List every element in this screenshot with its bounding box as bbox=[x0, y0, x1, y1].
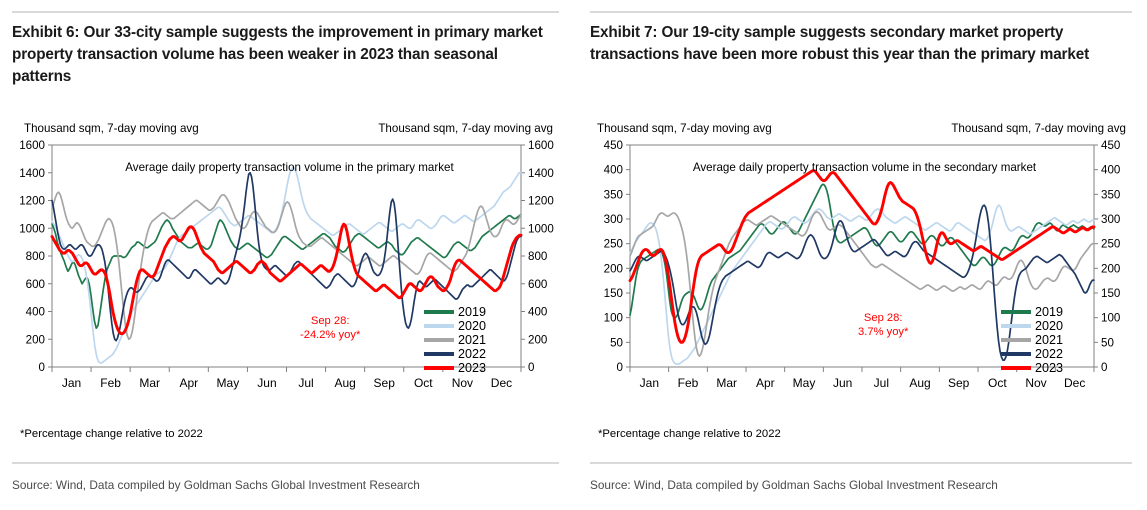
svg-text:Sep: Sep bbox=[374, 376, 396, 390]
svg-text:1600: 1600 bbox=[528, 139, 554, 152]
y-axis-unit-left: Thousand sqm, 7-day moving avg bbox=[597, 122, 772, 135]
footnote-secondary: *Percentage change relative to 2022 bbox=[598, 428, 781, 440]
legend-secondary: 20192020202120222023 bbox=[1001, 305, 1063, 375]
svg-text:0: 0 bbox=[1101, 361, 1107, 374]
svg-text:250: 250 bbox=[1101, 238, 1120, 251]
svg-text:May: May bbox=[217, 376, 240, 390]
svg-text:May: May bbox=[793, 376, 816, 390]
svg-text:0: 0 bbox=[528, 361, 534, 374]
svg-text:Apr: Apr bbox=[179, 376, 198, 390]
svg-text:450: 450 bbox=[1101, 139, 1120, 152]
legend-swatch-2022 bbox=[1001, 352, 1031, 355]
svg-text:350: 350 bbox=[604, 188, 623, 201]
svg-text:1600: 1600 bbox=[19, 139, 45, 152]
legend-label-2019: 2019 bbox=[1035, 306, 1063, 319]
svg-text:800: 800 bbox=[528, 250, 547, 263]
panel-exhibit-7: Exhibit 7: Our 19-city sample suggests s… bbox=[573, 0, 1146, 510]
svg-text:400: 400 bbox=[604, 164, 623, 177]
svg-text:800: 800 bbox=[26, 250, 45, 263]
svg-text:300: 300 bbox=[604, 213, 623, 226]
svg-text:450: 450 bbox=[604, 139, 623, 152]
legend-item-2023[interactable]: 2023 bbox=[424, 361, 486, 375]
svg-text:Dec: Dec bbox=[491, 376, 512, 390]
top-divider bbox=[12, 11, 559, 13]
svg-text:250: 250 bbox=[604, 238, 623, 251]
svg-text:Feb: Feb bbox=[678, 376, 699, 390]
bottom-divider bbox=[12, 462, 559, 464]
legend-label-2022: 2022 bbox=[458, 348, 486, 361]
exhibit-page: Exhibit 6: Our 33-city sample suggests t… bbox=[0, 0, 1147, 510]
svg-text:Oct: Oct bbox=[414, 376, 433, 390]
svg-text:400: 400 bbox=[528, 306, 547, 319]
svg-text:150: 150 bbox=[604, 287, 623, 300]
exhibit-6-title: Exhibit 6: Our 33-city sample suggests t… bbox=[12, 22, 559, 89]
svg-text:Apr: Apr bbox=[756, 376, 775, 390]
legend-swatch-2020 bbox=[424, 324, 454, 327]
svg-text:Oct: Oct bbox=[988, 376, 1007, 390]
y-axis-unit-right: Thousand sqm, 7-day moving avg bbox=[378, 122, 553, 135]
legend-label-2021: 2021 bbox=[1035, 334, 1063, 347]
panel-exhibit-6: Exhibit 6: Our 33-city sample suggests t… bbox=[0, 0, 573, 510]
svg-text:Jul: Jul bbox=[298, 376, 313, 390]
svg-text:150: 150 bbox=[1101, 287, 1120, 300]
svg-text:300: 300 bbox=[1101, 213, 1120, 226]
legend-label-2019: 2019 bbox=[458, 306, 486, 319]
svg-text:Sep: Sep bbox=[948, 376, 970, 390]
bottom-divider bbox=[590, 462, 1132, 464]
legend-swatch-2019 bbox=[1001, 310, 1031, 313]
unit-row-right-chart: Thousand sqm, 7-day moving avg Thousand … bbox=[573, 122, 1146, 138]
svg-text:200: 200 bbox=[1101, 262, 1120, 275]
svg-text:1200: 1200 bbox=[528, 195, 554, 208]
legend-swatch-2023 bbox=[424, 366, 454, 370]
svg-text:200: 200 bbox=[26, 333, 45, 346]
svg-text:Mar: Mar bbox=[716, 376, 737, 390]
svg-text:1000: 1000 bbox=[528, 222, 554, 235]
legend-label-2020: 2020 bbox=[1035, 320, 1063, 333]
svg-text:50: 50 bbox=[1101, 336, 1114, 349]
svg-text:Jun: Jun bbox=[833, 376, 852, 390]
legend-item-2020[interactable]: 2020 bbox=[424, 319, 486, 333]
svg-text:400: 400 bbox=[26, 306, 45, 319]
svg-text:Aug: Aug bbox=[334, 376, 355, 390]
svg-text:1000: 1000 bbox=[19, 222, 45, 235]
svg-text:100: 100 bbox=[1101, 312, 1120, 325]
plot-secondary-market: 0050501001001501502002002502503003003503… bbox=[573, 139, 1146, 399]
legend-item-2020[interactable]: 2020 bbox=[1001, 319, 1063, 333]
svg-text:350: 350 bbox=[1101, 188, 1120, 201]
svg-text:600: 600 bbox=[528, 278, 547, 291]
legend-item-2021[interactable]: 2021 bbox=[424, 333, 486, 347]
svg-text:Nov: Nov bbox=[452, 376, 473, 390]
svg-text:0: 0 bbox=[617, 361, 623, 374]
plot-primary-market: 0020020040040060060080080010001000120012… bbox=[0, 139, 573, 399]
svg-text:200: 200 bbox=[604, 262, 623, 275]
line-chart-primary: 0020020040040060060080080010001000120012… bbox=[0, 139, 573, 399]
svg-text:1400: 1400 bbox=[528, 167, 554, 180]
legend-primary: 20192020202120222023 bbox=[424, 305, 486, 375]
svg-text:50: 50 bbox=[610, 336, 623, 349]
chart-area-secondary: Thousand sqm, 7-day moving avg Thousand … bbox=[573, 122, 1146, 447]
svg-text:Jan: Jan bbox=[62, 376, 81, 390]
chart-area-primary: Thousand sqm, 7-day moving avg Thousand … bbox=[0, 122, 573, 447]
legend-swatch-2021 bbox=[424, 338, 454, 341]
svg-text:Mar: Mar bbox=[139, 376, 160, 390]
legend-label-2022: 2022 bbox=[1035, 348, 1063, 361]
legend-item-2019[interactable]: 2019 bbox=[1001, 305, 1063, 319]
svg-text:Jul: Jul bbox=[874, 376, 889, 390]
legend-swatch-2020 bbox=[1001, 324, 1031, 327]
svg-text:1400: 1400 bbox=[19, 167, 45, 180]
svg-text:Feb: Feb bbox=[100, 376, 121, 390]
legend-item-2021[interactable]: 2021 bbox=[1001, 333, 1063, 347]
legend-label-2021: 2021 bbox=[458, 334, 486, 347]
legend-label-2023: 2023 bbox=[458, 362, 486, 375]
legend-item-2022[interactable]: 2022 bbox=[424, 347, 486, 361]
legend-item-2022[interactable]: 2022 bbox=[1001, 347, 1063, 361]
y-axis-unit-right: Thousand sqm, 7-day moving avg bbox=[951, 122, 1126, 135]
legend-item-2019[interactable]: 2019 bbox=[424, 305, 486, 319]
svg-text:Jun: Jun bbox=[257, 376, 276, 390]
exhibit-7-title: Exhibit 7: Our 19-city sample suggests s… bbox=[590, 22, 1132, 66]
source-line-secondary: Source: Wind, Data compiled by Goldman S… bbox=[590, 478, 998, 492]
svg-text:Jan: Jan bbox=[640, 376, 659, 390]
footnote-primary: *Percentage change relative to 2022 bbox=[20, 428, 203, 440]
legend-swatch-2022 bbox=[424, 352, 454, 355]
legend-swatch-2021 bbox=[1001, 338, 1031, 341]
top-divider bbox=[590, 11, 1132, 13]
source-line-primary: Source: Wind, Data compiled by Goldman S… bbox=[12, 478, 420, 492]
svg-text:100: 100 bbox=[604, 312, 623, 325]
legend-label-2023: 2023 bbox=[1035, 362, 1063, 375]
svg-text:Aug: Aug bbox=[909, 376, 930, 390]
svg-text:1200: 1200 bbox=[19, 195, 45, 208]
svg-text:Dec: Dec bbox=[1064, 376, 1085, 390]
svg-text:600: 600 bbox=[26, 278, 45, 291]
legend-label-2020: 2020 bbox=[458, 320, 486, 333]
legend-swatch-2019 bbox=[424, 310, 454, 313]
svg-text:400: 400 bbox=[1101, 164, 1120, 177]
legend-item-2023[interactable]: 2023 bbox=[1001, 361, 1063, 375]
svg-text:Nov: Nov bbox=[1025, 376, 1046, 390]
legend-swatch-2023 bbox=[1001, 366, 1031, 370]
svg-text:0: 0 bbox=[39, 361, 45, 374]
unit-row-left-chart: Thousand sqm, 7-day moving avg Thousand … bbox=[0, 122, 573, 138]
y-axis-unit-left: Thousand sqm, 7-day moving avg bbox=[24, 122, 199, 135]
svg-text:200: 200 bbox=[528, 333, 547, 346]
